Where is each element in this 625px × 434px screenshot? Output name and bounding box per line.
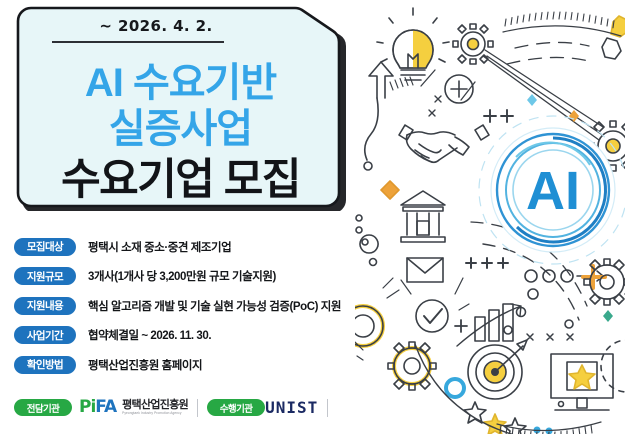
footer-divider-2 bbox=[327, 399, 328, 417]
detail-row: 확인방법 평택산업진흥원 홈페이지 bbox=[14, 350, 374, 380]
unist-logo: UNIST bbox=[265, 398, 318, 417]
ai-illustration: AI bbox=[355, 0, 625, 434]
detail-value: 평택시 소재 중소·중견 제조기업 bbox=[88, 239, 231, 255]
pifa-logo: PiFA bbox=[79, 399, 116, 416]
title-line-3: 수요기업 모집 bbox=[14, 145, 347, 207]
title-card: ~ 2026. 4. 2. AI 수요기반 실증사업 수요기업 모집 bbox=[14, 6, 347, 211]
detail-row: 지원내용 핵심 알고리즘 개발 및 기술 실현 가능성 검증(PoC) 지원 bbox=[14, 291, 374, 321]
poster-root: AI ~ 2026. 4. 2. AI 수요기반 실증사업 수요기업 모집 모집… bbox=[0, 0, 625, 434]
date-underline bbox=[52, 41, 224, 43]
detail-value: 핵심 알고리즘 개발 및 기술 실현 가능성 검증(PoC) 지원 bbox=[88, 298, 341, 314]
detail-row: 사업기간 협약체결일 ~ 2026. 11. 30. bbox=[14, 321, 374, 351]
detail-value: 협약체결일 ~ 2026. 11. 30. bbox=[88, 327, 211, 343]
detail-label-badge: 모집대상 bbox=[14, 238, 76, 256]
detail-value: 3개사(1개사 당 3,200만원 규모 기술지원) bbox=[88, 268, 276, 284]
detail-label-badge: 지원규모 bbox=[14, 267, 76, 285]
executing-org-badge: 수행기관 bbox=[207, 399, 265, 416]
managing-org-badge: 전담기관 bbox=[14, 399, 72, 416]
pifa-name-english: Pyeongtaek Industry Promotion Agency bbox=[122, 412, 188, 415]
pifa-name-korean: 평택산업진흥원 bbox=[122, 400, 188, 412]
date-label: ~ 2026. 4. 2. bbox=[58, 17, 254, 36]
detail-label-badge: 사업기간 bbox=[14, 326, 76, 344]
pifa-mark-part1: Pi bbox=[79, 397, 95, 417]
detail-row: 지원규모 3개사(1개사 당 3,200만원 규모 기술지원) bbox=[14, 262, 374, 292]
detail-value: 평택산업진흥원 홈페이지 bbox=[88, 357, 202, 373]
pifa-name-block: 평택산업진흥원 Pyeongtaek Industry Promotion Ag… bbox=[122, 400, 188, 415]
detail-list: 모집대상 평택시 소재 중소·중견 제조기업 지원규모 3개사(1개사 당 3,… bbox=[14, 232, 374, 380]
pifa-mark-part2: FA bbox=[95, 397, 116, 417]
ai-badge-text: AI bbox=[526, 161, 580, 221]
detail-row: 모집대상 평택시 소재 중소·중견 제조기업 bbox=[14, 232, 374, 262]
footer-logos: 전담기관 PiFA 평택산업진흥원 Pyeongtaek Industry Pr… bbox=[14, 398, 337, 417]
footer-divider-1 bbox=[197, 399, 198, 417]
detail-label-badge: 지원내용 bbox=[14, 297, 76, 315]
detail-label-badge: 확인방법 bbox=[14, 356, 76, 374]
